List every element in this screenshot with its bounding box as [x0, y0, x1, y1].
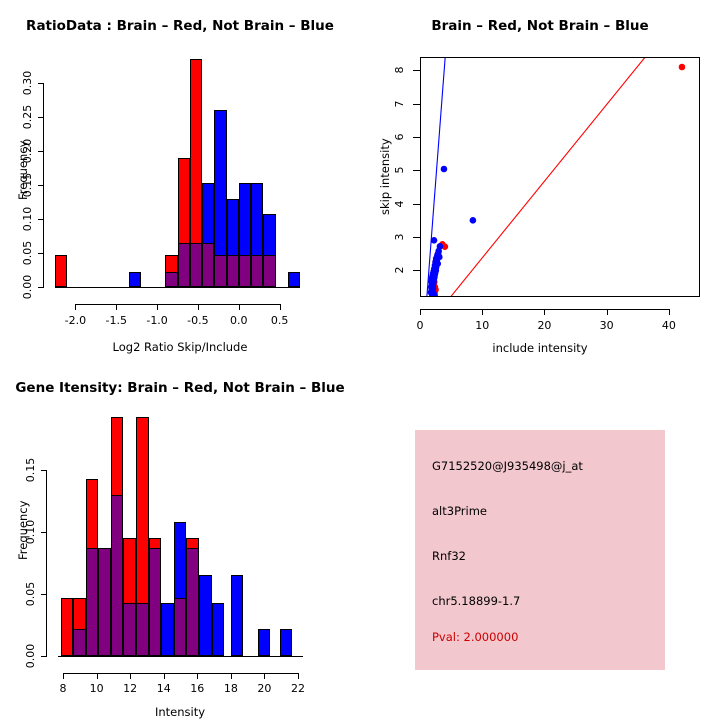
scatter-y-ticklabel: 2: [393, 256, 407, 284]
gene-hist-plot-area: 0.000.050.100.15810121416182022: [0, 360, 360, 720]
gene-hist-x-ticklabel: 22: [282, 682, 314, 695]
scatter-y-ticklabel: 8: [393, 56, 407, 84]
ratio-hist-bar-overlap: [227, 255, 239, 287]
ratio-hist-y-tick: [38, 253, 44, 254]
ratio-hist-bar-overlap: [214, 255, 226, 287]
ratio-hist-y-tick: [38, 151, 44, 152]
ratio-hist-bar-overlap: [239, 255, 251, 287]
ratio-hist-y-ticklabel: 0.10: [21, 199, 35, 239]
gene-hist-x-tick: [298, 673, 299, 679]
gene-hist-bar-overlap: [73, 629, 86, 656]
panel-gene-histogram: Gene Itensity: Brain – Red, Not Brain – …: [0, 360, 360, 720]
ratio-hist-x-tick: [75, 304, 76, 310]
scatter-x-tick: [607, 309, 608, 315]
scatter-y-tick: [413, 170, 420, 171]
gene-hist-y-tick: [41, 532, 47, 533]
gene-hist-y-axis: [46, 470, 47, 656]
gene-hist-bar: [199, 575, 212, 656]
gene-hist-bar-overlap: [174, 598, 187, 656]
info-locus: chr5.18899-1.7: [432, 594, 520, 608]
ratio-hist-x-ticklabel: -1.5: [94, 314, 138, 327]
scatter-y-tick: [413, 237, 420, 238]
scatter-point: [431, 237, 438, 244]
ratio-hist-bar: [55, 255, 67, 287]
gene-hist-y-tick: [41, 656, 47, 657]
ratio-hist-x-tick: [280, 304, 281, 310]
gene-hist-bar-overlap: [123, 603, 136, 656]
gene-hist-x-tick: [63, 673, 64, 679]
scatter-y-tick: [413, 270, 420, 271]
scatter-y-ticklabel: 7: [393, 90, 407, 118]
ratio-hist-y-ticklabel: 0.00: [21, 267, 35, 307]
scatter-x-ticklabel: 20: [524, 319, 564, 332]
scatter-data-layer: [421, 58, 699, 296]
gene-hist-baseline: [58, 656, 303, 657]
ratio-hist-x-ticklabel: 0.5: [258, 314, 302, 327]
ratio-hist-x-axis: [75, 304, 279, 305]
ratio-hist-x-tick: [239, 304, 240, 310]
gene-hist-bar: [61, 598, 74, 656]
ratio-hist-x-ticklabel: -1.0: [135, 314, 179, 327]
gene-hist-x-tick: [197, 673, 198, 679]
scatter-plot-area: 2345678010203040: [360, 0, 720, 360]
ratio-hist-y-ticklabel: 0.15: [21, 165, 35, 205]
scatter-x-ticklabel: 30: [587, 319, 627, 332]
ratio-hist-x-ticklabel: -0.5: [176, 314, 220, 327]
scatter-y-tick: [413, 70, 420, 71]
gene-hist-bar: [280, 629, 293, 656]
gene-hist-x-tick: [97, 673, 98, 679]
gene-hist-x-ticklabel: 20: [248, 682, 280, 695]
ratio-hist-bar: [129, 272, 141, 287]
gene-hist-x-ticklabel: 18: [215, 682, 247, 695]
gene-hist-bar: [212, 603, 225, 656]
ratio-hist-bar: [288, 272, 300, 287]
panel-intensity-scatter: Brain – Red, Not Brain – Blue skip inten…: [360, 0, 720, 360]
scatter-x-ticklabel: 10: [462, 319, 502, 332]
scatter-x-tick: [482, 309, 483, 315]
ratio-hist-y-ticklabel: 0.30: [21, 63, 35, 103]
ratio-hist-y-tick: [38, 287, 44, 288]
scatter-x-ticklabel: 0: [400, 319, 440, 332]
gene-hist-x-tick: [231, 673, 232, 679]
info-gene-symbol: Rnf32: [432, 549, 466, 563]
gene-hist-x-ticklabel: 16: [181, 682, 213, 695]
gene-hist-bar-overlap: [186, 548, 199, 656]
scatter-x-tick: [420, 309, 421, 315]
ratio-hist-bar-overlap: [178, 243, 190, 287]
panel-ratio-histogram: RatioData : Brain – Red, Not Brain – Blu…: [0, 0, 360, 360]
gene-hist-y-ticklabel: 0.00: [24, 636, 38, 676]
ratio-hist-y-tick: [38, 83, 44, 84]
ratio-hist-bar-overlap: [202, 243, 214, 287]
gene-hist-y-ticklabel: 0.15: [24, 450, 38, 490]
gene-hist-y-ticklabel: 0.10: [24, 512, 38, 552]
gene-hist-x-tick: [130, 673, 131, 679]
ratio-hist-baseline: [55, 287, 300, 288]
ratio-hist-y-tick: [38, 117, 44, 118]
gene-hist-bar: [258, 629, 271, 656]
scatter-y-ticklabel: 5: [393, 156, 407, 184]
ratio-hist-y-tick: [38, 185, 44, 186]
scatter-y-tick: [413, 204, 420, 205]
ratio-hist-plot-area: 0.000.050.100.150.200.250.30-2.0-1.5-1.0…: [0, 0, 360, 360]
gene-hist-bar-overlap: [149, 548, 162, 656]
scatter-point: [470, 217, 477, 224]
gene-hist-x-ticklabel: 10: [81, 682, 113, 695]
gene-hist-x-axis: [63, 673, 298, 674]
gene-hist-bar-overlap: [98, 548, 111, 656]
scatter-y-ticklabel: 4: [393, 190, 407, 218]
gene-hist-bar: [231, 575, 244, 656]
ratio-hist-y-ticklabel: 0.25: [21, 97, 35, 137]
ratio-hist-bar-overlap: [251, 255, 263, 287]
red-fit-line: [450, 58, 645, 296]
gene-hist-x-ticklabel: 12: [114, 682, 146, 695]
panel-gene-info: G7152520@J935498@j_at alt3Prime Rnf32 ch…: [360, 360, 720, 720]
info-probe-id: G7152520@J935498@j_at: [432, 459, 583, 473]
gene-hist-x-tick: [164, 673, 165, 679]
gene-hist-x-ticklabel: 14: [148, 682, 180, 695]
ratio-hist-bar-overlap: [263, 255, 275, 287]
gene-hist-y-tick: [41, 470, 47, 471]
gene-hist-bar-overlap: [111, 495, 124, 656]
ratio-hist-bar-overlap: [165, 272, 177, 287]
gene-hist-bar-overlap: [86, 548, 99, 656]
info-pval: Pval: 2.000000: [432, 630, 518, 644]
scatter-x-tick: [669, 309, 670, 315]
gene-hist-x-tick: [264, 673, 265, 679]
ratio-hist-bar-overlap: [190, 243, 202, 287]
gene-hist-bar: [161, 603, 174, 656]
ratio-hist-y-tick: [38, 219, 44, 220]
scatter-y-ticklabel: 3: [393, 223, 407, 251]
gene-hist-bar-overlap: [136, 603, 149, 656]
scatter-point: [441, 166, 448, 173]
scatter-x-ticklabel: 40: [649, 319, 689, 332]
info-event-type: alt3Prime: [432, 504, 487, 518]
ratio-hist-x-tick: [157, 304, 158, 310]
ratio-hist-y-ticklabel: 0.05: [21, 233, 35, 273]
gene-hist-y-ticklabel: 0.05: [24, 574, 38, 614]
ratio-hist-x-tick: [198, 304, 199, 310]
gene-hist-x-ticklabel: 8: [47, 682, 79, 695]
scatter-point: [679, 64, 686, 71]
scatter-x-tick: [544, 309, 545, 315]
figure-canvas: RatioData : Brain – Red, Not Brain – Blu…: [0, 0, 720, 720]
scatter-y-ticklabel: 6: [393, 123, 407, 151]
scatter-y-tick: [413, 104, 420, 105]
ratio-hist-x-tick: [116, 304, 117, 310]
ratio-hist-x-ticklabel: 0.0: [217, 314, 261, 327]
ratio-hist-y-ticklabel: 0.20: [21, 131, 35, 171]
gene-info-box: G7152520@J935498@j_at alt3Prime Rnf32 ch…: [415, 430, 665, 670]
scatter-y-tick: [413, 137, 420, 138]
ratio-hist-x-ticklabel: -2.0: [53, 314, 97, 327]
gene-hist-y-tick: [41, 594, 47, 595]
